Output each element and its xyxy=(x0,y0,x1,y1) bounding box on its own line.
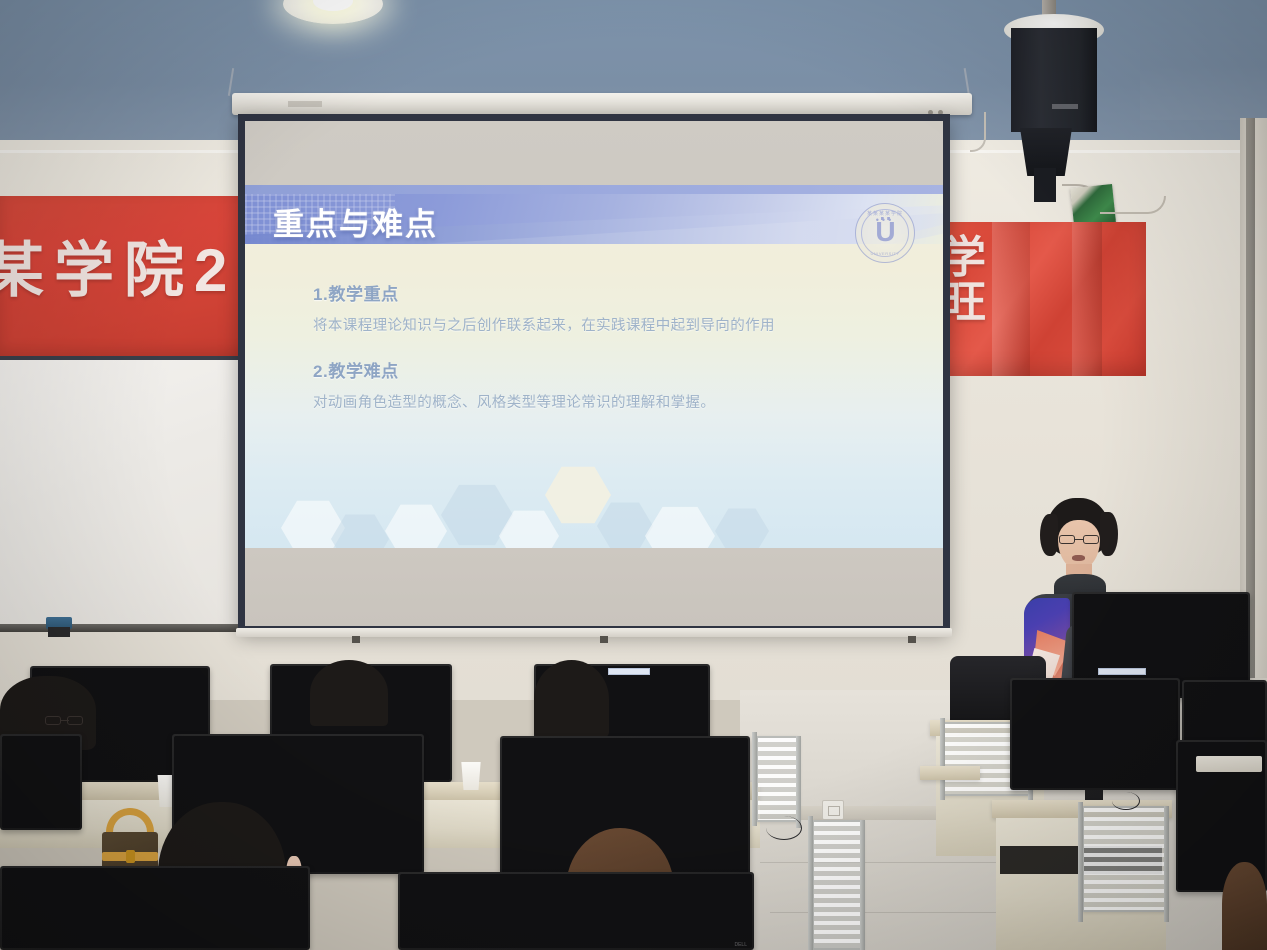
university-seal-logo: 某某某某学院 ••• Ü UNIVERSITY xyxy=(855,203,915,263)
speaker-brand-label xyxy=(1052,104,1078,109)
banner-fold-1 xyxy=(992,222,1030,376)
divider-post xyxy=(860,820,865,950)
slide-point-heading-2: 2.教学难点 xyxy=(313,357,903,382)
projection-screen-surface: 重点与难点 某某某某学院 ••• Ü UNIVERSITY 1.教学重点 将本课… xyxy=(245,121,943,626)
keyboard[interactable] xyxy=(1196,756,1262,772)
screen-inactive-area xyxy=(245,548,943,626)
handbag-clasp xyxy=(126,850,135,863)
screen-bottom-clip xyxy=(600,636,608,643)
monitor-screen xyxy=(400,874,752,948)
roller-indicator-dots xyxy=(928,102,950,107)
logo-arc-bottom-text: UNIVERSITY xyxy=(856,251,914,256)
projection-screen-frame: 重点与难点 某某某某学院 ••• Ü UNIVERSITY 1.教学重点 将本课… xyxy=(238,114,950,632)
whiteboard-eraser-base xyxy=(48,627,70,637)
logo-letter: Ü xyxy=(856,218,914,246)
student-monitor[interactable] xyxy=(0,866,310,950)
glasses-icon xyxy=(1058,535,1100,544)
slide-point-text-1: 将本课程理论知识与之后创作联系起来，在实践课程中起到导向的作用 xyxy=(313,314,903,335)
computer-desk xyxy=(920,766,980,780)
divider-post xyxy=(808,816,813,950)
student-monitor[interactable] xyxy=(0,734,82,830)
monitor-cable xyxy=(766,816,802,840)
hexagon-shape xyxy=(597,501,653,551)
instructor-hair-side-left xyxy=(1040,514,1058,556)
instructor-mouth xyxy=(1072,555,1085,561)
divider-post xyxy=(1078,802,1083,922)
monitor-brand-label: DELL xyxy=(734,942,747,948)
banner-fold-2 xyxy=(1072,222,1102,376)
slide-title: 重点与难点 xyxy=(273,199,438,244)
whiteboard-tray xyxy=(0,624,248,632)
divider-post xyxy=(752,732,757,826)
slide-point-heading-1: 1.教学重点 xyxy=(313,280,903,305)
slide-top-strip xyxy=(245,185,943,194)
screen-roller-housing xyxy=(232,93,972,115)
ceiling-wire-b xyxy=(1100,196,1166,214)
student-center-back xyxy=(534,660,609,738)
divider-post xyxy=(940,718,945,800)
speaker-stem xyxy=(1034,168,1056,202)
monitor-asset-tag xyxy=(608,668,650,675)
frosted-glass-divider xyxy=(1082,806,1168,912)
monitor-asset-tag xyxy=(1098,668,1146,675)
ceiling-speaker-icon xyxy=(1011,28,1097,132)
red-banner-right: 学旺 xyxy=(932,222,1146,376)
slide-hexagon-decoration xyxy=(245,439,943,559)
screen-bottom-clip xyxy=(908,636,916,643)
upper-wall-right xyxy=(1140,0,1267,120)
slide-point-text-2: 对动画角色造型的概念、风格类型等理论常识的理解和掌握。 xyxy=(313,391,903,412)
red-banner-left: 某学院20 xyxy=(0,196,252,356)
floor-tile-line xyxy=(760,862,1000,863)
whiteboard xyxy=(0,356,244,628)
hexagon-shape xyxy=(545,465,611,525)
student-monitor[interactable]: DELL xyxy=(398,872,754,950)
divider-post xyxy=(1164,806,1169,922)
powerpoint-slide: 重点与难点 某某某某学院 ••• Ü UNIVERSITY 1.教学重点 将本课… xyxy=(245,185,943,559)
yellow-handbag xyxy=(88,808,168,870)
glasses-icon xyxy=(44,716,84,725)
slide-body: 1.教学重点 将本课程理论知识与之后创作联系起来，在实践课程中起到导向的作用 2… xyxy=(313,280,903,412)
monitor-screen xyxy=(2,736,80,828)
red-banner-left-text: 某学院20 xyxy=(0,222,274,309)
paper-cup xyxy=(460,762,482,790)
monitor-cable xyxy=(1112,792,1140,810)
instructor-hair-side-right xyxy=(1100,512,1118,556)
wall-outlet-icon xyxy=(822,800,844,820)
student-back-left xyxy=(310,660,388,726)
student-right-ponytail xyxy=(1222,862,1267,950)
frosted-glass-divider xyxy=(812,820,864,950)
monitor-screen xyxy=(2,868,308,948)
divider-post xyxy=(796,736,801,828)
roller-brand-label xyxy=(288,101,322,107)
frosted-glass-divider xyxy=(756,736,800,822)
ceiling-light-bulb xyxy=(313,0,353,11)
student-monitor[interactable] xyxy=(1010,678,1180,790)
instructor-face xyxy=(1058,520,1100,570)
screen-bottom-clip xyxy=(352,636,360,643)
monitor-screen xyxy=(1012,680,1178,788)
screen-bottom-bar xyxy=(236,628,952,637)
classroom-photo-scene: 某学院20 学旺 xyxy=(0,0,1267,950)
